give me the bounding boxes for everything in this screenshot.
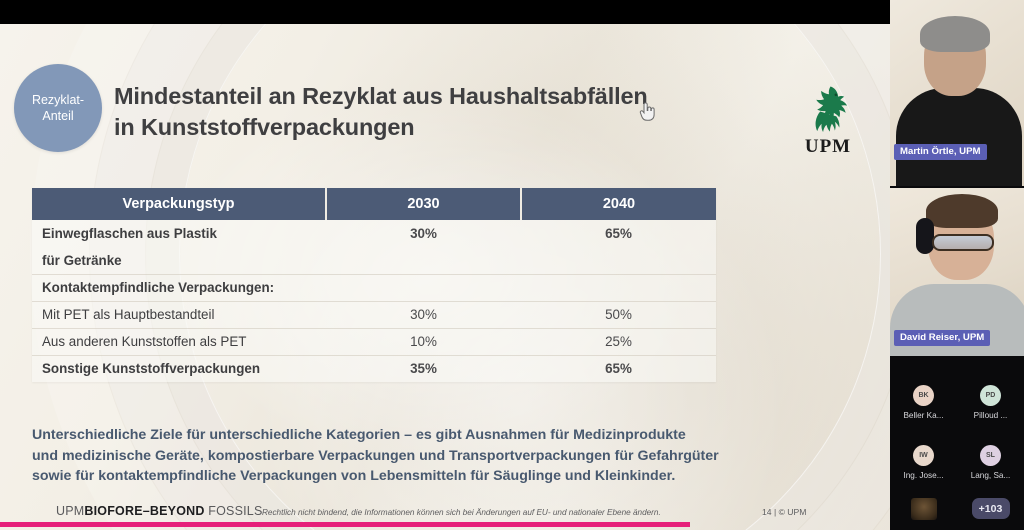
participant-thumbnail-grid[interactable]: BK Beller Ka... PD Pilloud ... IW Ing. J… [890,372,1024,530]
griffin-icon [802,84,854,135]
screenshare-stage[interactable]: Rezyklat- Anteil Mindestanteil an Rezykl… [0,0,890,530]
badge-line-1: Rezyklat- [32,92,84,108]
overflow-count-badge: +103 [972,498,1010,519]
participants-overflow-tile[interactable]: +103 [957,496,1024,530]
video-tile-speaker-2[interactable]: David Reiser, UPM [890,188,1024,368]
participant-name: Beller Ka... [903,411,943,420]
slide-footer: UPMBIOFORE–BEYOND FOSSILS Rechtlich nich… [0,496,890,530]
brand-dash: – [143,504,150,518]
avatar: IW [913,445,934,466]
recycled-content-table: Verpackungstyp 2030 2040 Einwegflaschen … [32,188,716,382]
row-label: für Getränke [32,247,326,274]
row-2030 [326,274,521,301]
table-header-row: Verpackungstyp 2030 2040 [32,188,716,220]
row-2040: 65% [521,355,716,382]
brand-beyond: BEYOND [150,504,205,518]
participant-name: Ing. Jose... [903,471,943,480]
participant-tile[interactable]: IW Ing. Jose... [890,438,957,492]
participant-tile[interactable]: SL Lang, Sa... [957,438,1024,492]
participant-video-thumbnail [911,498,937,520]
table-row: Mit PET als Hauptbestandteil 30% 50% [32,301,716,328]
row-2030: 10% [326,328,521,355]
upm-logo: UPM [796,84,860,158]
slide-note-paragraph: Unterschiedliche Ziele für unterschiedli… [32,425,792,487]
table-row: Einwegflaschen aus Plastik 30% 65% [32,220,716,247]
footer-accent-rule [0,522,690,527]
col-header-2040: 2040 [521,188,716,220]
footer-brand: UPMBIOFORE–BEYOND FOSSILS [56,504,262,518]
col-header-2030: 2030 [326,188,521,220]
row-2040 [521,247,716,274]
brand-prefix: UPM [56,504,84,518]
badge-line-2: Anteil [42,108,73,124]
row-2040: 50% [521,301,716,328]
table-row: Sonstige Kunststoffverpackungen 35% 65% [32,355,716,382]
participant-name: Lang, Sa... [971,471,1011,480]
participant-tile[interactable]: BK Beller Ka... [890,378,957,432]
participant-tile[interactable]: PD Pilloud ... [957,378,1024,432]
avatar: BK [913,385,934,406]
footer-disclaimer: Rechtlich nicht bindend, die Information… [262,508,661,517]
row-2030: 30% [326,220,521,247]
row-2040: 25% [521,328,716,355]
meeting-screenshare-window: Rezyklat- Anteil Mindestanteil an Rezykl… [0,0,1024,530]
slide-title-line-1: Mindestanteil an Rezyklat aus Haushaltsa… [114,83,648,109]
participant-name: Pilloud ... [974,411,1008,420]
note-line-1: Unterschiedliche Ziele für unterschiedli… [32,425,792,446]
brand-fossils: FOSSILS [208,504,262,518]
row-2040 [521,274,716,301]
presentation-slide[interactable]: Rezyklat- Anteil Mindestanteil an Rezykl… [0,24,890,530]
note-line-2: und medizinische Geräte, kompostierbare … [32,446,792,467]
row-label: Einwegflaschen aus Plastik [32,220,326,247]
row-2030: 35% [326,355,521,382]
participant-tile-video[interactable] [890,496,957,530]
rezyklat-anteil-badge: Rezyklat- Anteil [14,64,102,152]
table-row: Aus anderen Kunststoffen als PET 10% 25% [32,328,716,355]
row-2040: 65% [521,220,716,247]
avatar: PD [980,385,1001,406]
table-row: für Getränke [32,247,716,274]
row-label: Mit PET als Hauptbestandteil [32,301,326,328]
video-tile-speaker-1[interactable]: Martin Örtle, UPM [890,0,1024,186]
col-header-type: Verpackungstyp [32,188,326,220]
participants-rail[interactable]: Martin Örtle, UPM David Reiser, UPM BK B… [890,0,1024,530]
speaker-2-name-tag: David Reiser, UPM [894,330,990,347]
row-2030 [326,247,521,274]
speaker-1-name-tag: Martin Örtle, UPM [894,144,987,161]
row-label: Kontaktempfindliche Verpackungen: [32,274,326,301]
slide-title: Mindestanteil an Rezyklat aus Haushaltsa… [114,81,754,143]
row-label: Sonstige Kunststoffverpackungen [32,355,326,382]
row-label: Aus anderen Kunststoffen als PET [32,328,326,355]
slide-title-line-2: in Kunststoffverpackungen [114,112,754,143]
footer-page-number: 14 | © UPM [762,507,806,517]
row-2030: 30% [326,301,521,328]
upm-wordmark: UPM [805,136,851,158]
note-line-3: sowie für kontaktempfindliche Verpackung… [32,466,792,487]
table-row: Kontaktempfindliche Verpackungen: [32,274,716,301]
brand-biofore: BIOFORE [84,504,142,518]
avatar: SL [980,445,1001,466]
